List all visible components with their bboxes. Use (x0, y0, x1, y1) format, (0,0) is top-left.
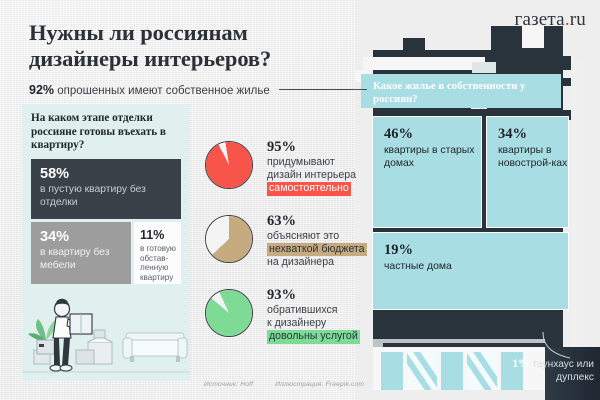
ground-pane-2 (407, 352, 437, 390)
left-panel: На каком этапе отделки россияне готовы в… (22, 104, 190, 381)
headline-stat-percent: 92% (29, 83, 54, 97)
stage-bar-empty-apartment: 58% в пустую квартиру без отделки (31, 159, 181, 219)
cornice-grill (472, 62, 496, 73)
pie-line-2: к дизайнеру (267, 317, 407, 330)
left-panel-question: На каком этапе отделки россияне готовы в… (31, 112, 183, 153)
pie-line-1: объясняют это (267, 230, 407, 243)
pie-line-2: дизайн интерьера (267, 169, 407, 182)
bar-label: в квартиру без мебели (40, 247, 131, 272)
pie-percent: 95% (267, 139, 407, 156)
pie-group-self-design: 95% придумывают дизайн интерьера самосто… (205, 141, 385, 196)
pie-group-satisfaction: 93% обратившихся к дизайнеру довольны ус… (205, 289, 385, 344)
pie-chart-95 (205, 141, 253, 189)
ownership-callout-townhouse: 1% таунхаус или дуплекс (506, 358, 594, 384)
pie-caption: 93% обратившихся к дизайнеру довольны ус… (267, 287, 407, 344)
base-shadow-line (383, 343, 545, 347)
bar-percent: 11% (140, 228, 181, 242)
pie-line-1: обратившихся (267, 304, 407, 317)
pie-line-2: на дизайнера (267, 256, 407, 269)
cornice-band-main (363, 57, 485, 70)
credit-illustration: Иллюстрация: Freepik.com (275, 381, 364, 388)
pie-highlight: самостоятельно (267, 182, 351, 195)
pie-group-budget: 63% объясняют это нехваткой бюджета на д… (205, 215, 385, 270)
bar-percent: 58% (40, 166, 181, 182)
pie-chart-93 (205, 289, 253, 337)
pie-caption: 95% придумывают дизайн интерьера самосто… (267, 139, 407, 196)
facade-right-strip (571, 60, 583, 360)
page-title: Нужны ли россиянам дизайнеры интерьеров? (29, 20, 271, 72)
pie-slice-fill (206, 216, 252, 262)
headline-stat: 92% опрошенных имеют собственное жилье (29, 83, 367, 97)
pie-line-1: придумывают (267, 156, 407, 169)
card-percent: 34% (498, 126, 568, 143)
logo-name: газета (514, 9, 564, 30)
card-percent: 19% (384, 242, 568, 259)
logo-tld: ru (570, 9, 586, 30)
building-ledge-right (553, 56, 571, 70)
ownership-card-new-buildings: 34% квартиры в новострой-ках (486, 116, 569, 228)
pie-chart-63 (205, 215, 253, 263)
ground-pane-4 (467, 352, 497, 390)
infographic-root: Какое жилье в собственности у россиян? 4… (0, 0, 600, 400)
bar-percent: 34% (40, 229, 131, 245)
stage-bar-furnished: 11% в готовую обстав-ленную квартиру (134, 222, 181, 284)
pie-percent: 63% (267, 213, 407, 230)
title-line-1: Нужны ли россиянам (29, 20, 271, 46)
connector-rule (279, 89, 367, 90)
pie-highlight: нехваткой бюджета (267, 243, 367, 256)
stage-bar-no-furniture: 34% в квартиру без мебели (31, 222, 131, 284)
card-label: частные дома (384, 261, 568, 274)
bar-label: в готовую обстав-ленную квартиру (140, 244, 181, 282)
pie-highlight: довольны услугой (267, 330, 360, 343)
site-logo[interactable]: газета.ru (514, 9, 586, 31)
card-label: квартиры в новострой-ках (498, 145, 568, 170)
credit-source: Источник: Hoff (204, 381, 253, 388)
moving-illustration (22, 286, 190, 381)
credits: Источник: HoffИллюстрация: Freepik.com (204, 381, 386, 388)
title-line-2: дизайнеры интерьеров? (29, 46, 271, 72)
bar-label: в пустую квартиру без отделки (40, 184, 181, 209)
pie-slice-fill (206, 290, 252, 336)
ground-pane-3 (441, 352, 463, 390)
pie-percent: 93% (267, 287, 407, 304)
callout-percent: 1% (512, 358, 529, 370)
headline-stat-text: опрошенных имеют собственное жилье (54, 85, 270, 97)
right-panel-header: Какое жилье в собственности у россиян? (361, 74, 561, 108)
building-ledge-left (403, 38, 425, 54)
pie-slice-fill (206, 142, 252, 188)
pie-caption: 63% объясняют это нехваткой бюджета на д… (267, 213, 407, 270)
callout-label: таунхаус или дуплекс (530, 359, 594, 383)
